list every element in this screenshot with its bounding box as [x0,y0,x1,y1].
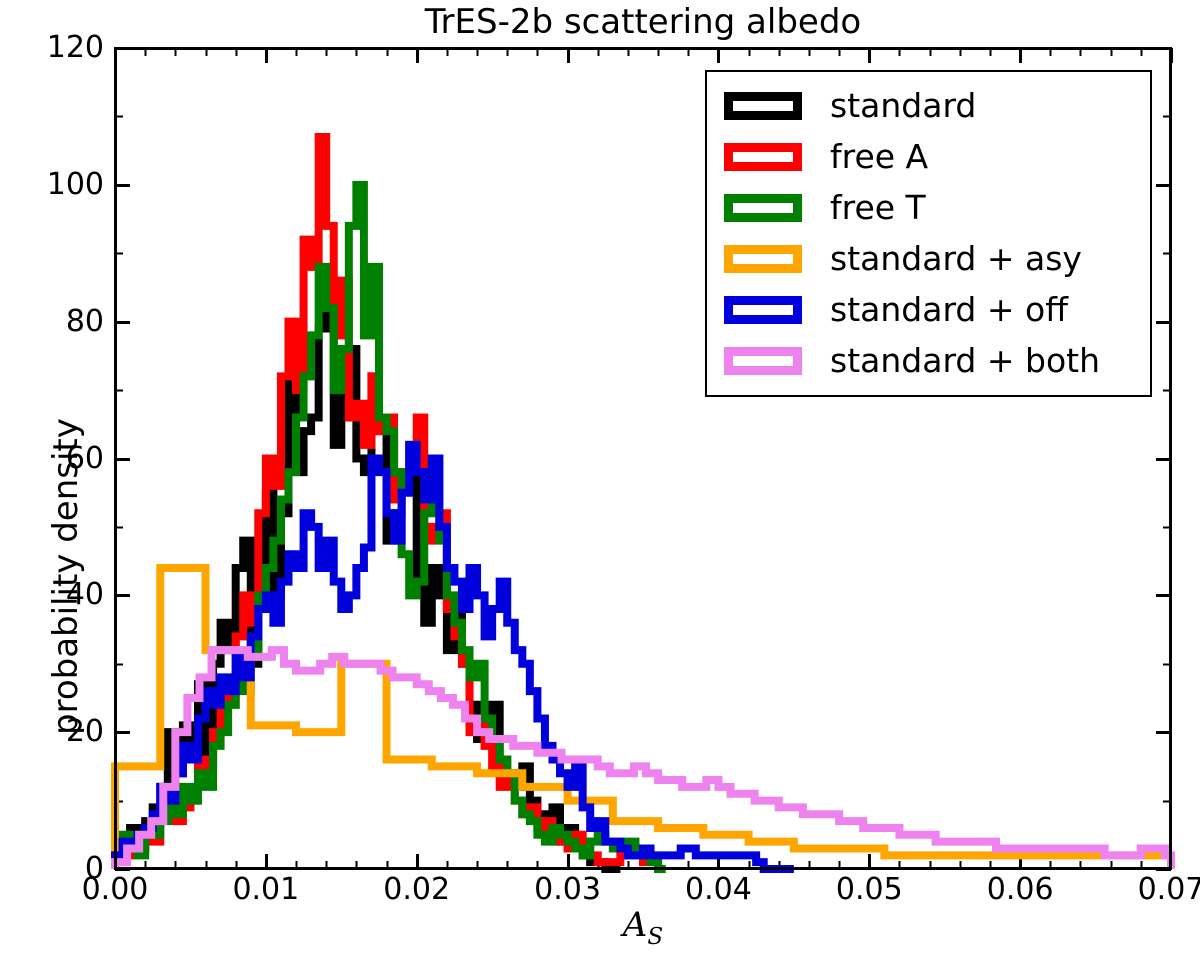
legend-swatch-icon [724,245,802,273]
page-title: TrES-2b scattering albedo [115,2,1171,42]
legend-swatch-icon [724,296,802,324]
legend-swatch-icon [724,92,802,120]
x-tick-label: 0.01 [206,872,326,907]
legend-item-standard-both[interactable]: standard + both [707,335,1150,386]
y-tick-label: 20 [14,714,104,749]
legend-item-label: free T [830,191,926,224]
y-tick-label: 40 [14,577,104,612]
y-tick-label: 80 [14,304,104,339]
legend-box: standardfree Afree Tstandard + asystanda… [705,70,1152,397]
figure-canvas: TrES-2b scattering albedo probability de… [0,0,1200,963]
legend-item-label: standard [830,89,976,122]
y-tick-label: 120 [14,30,104,65]
legend-swatch-icon [724,143,802,171]
x-tick-label: 0.05 [809,872,929,907]
legend-swatch-icon [724,347,802,375]
x-tick-label: 0.03 [508,872,628,907]
histogram-series-standard-both [115,650,1171,869]
legend-item-label: standard + both [830,344,1100,377]
x-tick-label: 0.04 [658,872,778,907]
x-axis-label-base: A [623,905,648,945]
legend-item-standard[interactable]: standard [707,80,1150,131]
legend-swatch-icon [724,194,802,222]
y-tick-label: 100 [14,167,104,202]
legend-item-standard-off[interactable]: standard + off [707,284,1150,335]
legend-item-standard-asy[interactable]: standard + asy [707,233,1150,284]
x-axis-label: AS [115,905,1171,950]
y-tick-label: 0 [14,851,104,886]
x-axis-label-subscript: S [647,924,663,950]
x-tick-label: 0.02 [357,872,477,907]
legend-item-free-a[interactable]: free A [707,131,1150,182]
legend-item-label: standard + asy [830,242,1082,275]
x-tick-label: 0.07 [1111,872,1200,907]
x-tick-label: 0.06 [960,872,1080,907]
legend-item-label: free A [830,140,928,173]
y-tick-label: 60 [14,441,104,476]
legend-item-label: standard + off [830,293,1068,326]
legend-item-free-t[interactable]: free T [707,182,1150,233]
